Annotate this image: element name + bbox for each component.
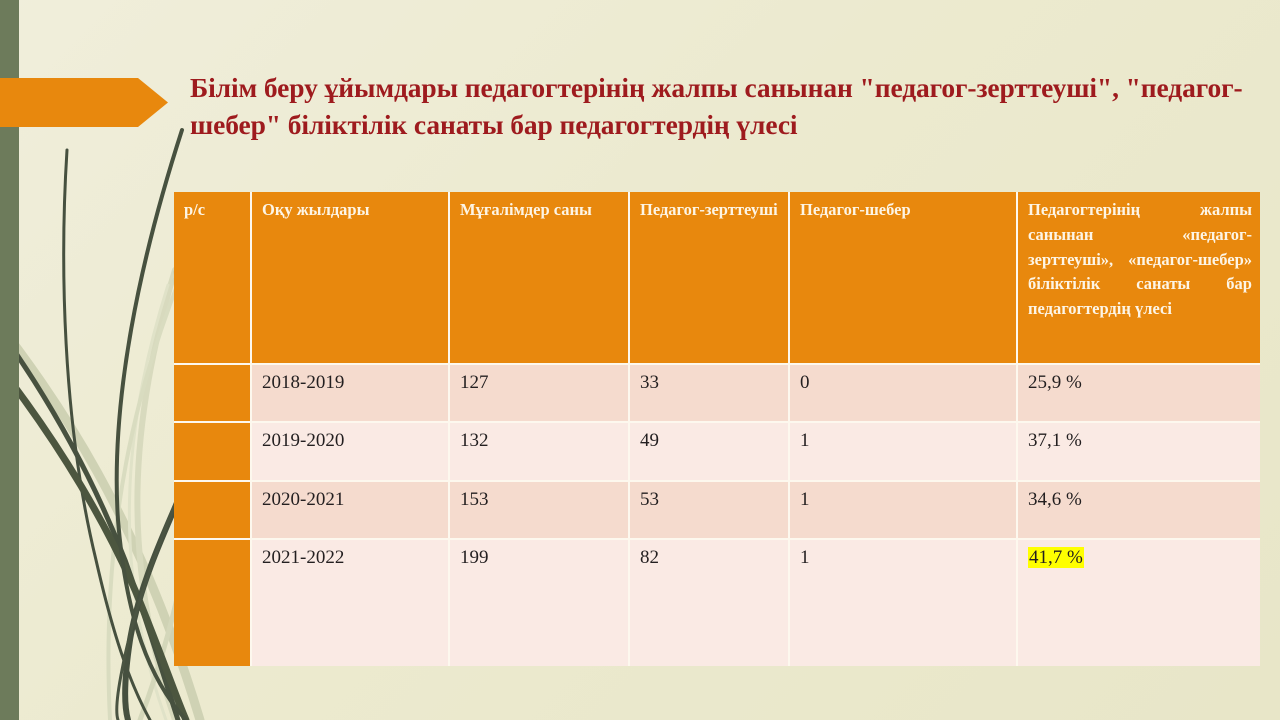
cell-master: 0: [790, 365, 1018, 423]
table-row: 2021-2022 199 82 1 41,7 %: [174, 540, 1260, 666]
cell-share: 25,9 %: [1018, 365, 1260, 423]
slide-canvas: Білім беру ұйымдары педагогтерінің жалпы…: [0, 0, 1280, 720]
cell-researcher: 49: [630, 423, 790, 482]
table-row: 2020-2021 153 53 1 34,6 %: [174, 482, 1260, 540]
col-header-index: р/с: [174, 192, 252, 365]
table-header: р/с Оқу жылдары Мұғалімдер саны Педагог-…: [174, 192, 1260, 365]
share-value: 37,1 %: [1028, 430, 1082, 451]
cell-researcher: 82: [630, 540, 790, 666]
col-header-share: Педагогтерінің жалпы санынан «педагог-зе…: [1018, 192, 1260, 365]
cell-teachers: 199: [450, 540, 630, 666]
cell-share: 34,6 %: [1018, 482, 1260, 540]
col-header-year: Оқу жылдары: [252, 192, 450, 365]
cell-index: [174, 482, 252, 540]
cell-master: 1: [790, 423, 1018, 482]
pedagog-share-table: р/с Оқу жылдары Мұғалімдер саны Педагог-…: [174, 192, 1260, 666]
cell-share: 37,1 %: [1018, 423, 1260, 482]
data-table-container: р/с Оқу жылдары Мұғалімдер саны Педагог-…: [174, 192, 1260, 666]
cell-index: [174, 423, 252, 482]
cell-teachers: 127: [450, 365, 630, 423]
cell-master: 1: [790, 482, 1018, 540]
cell-share: 41,7 %: [1018, 540, 1260, 666]
orange-arrow-banner: [0, 78, 168, 127]
cell-teachers: 132: [450, 423, 630, 482]
cell-index: [174, 540, 252, 666]
page-title: Білім беру ұйымдары педагогтерінің жалпы…: [190, 70, 1250, 144]
share-value: 25,9 %: [1028, 372, 1082, 393]
cell-index: [174, 365, 252, 423]
share-value: 34,6 %: [1028, 489, 1082, 510]
cell-year: 2021-2022: [252, 540, 450, 666]
cell-year: 2020-2021: [252, 482, 450, 540]
cell-teachers: 153: [450, 482, 630, 540]
share-value-highlighted: 41,7 %: [1028, 547, 1084, 568]
table-body: 2018-2019 127 33 0 25,9 % 2019-2020 132 …: [174, 365, 1260, 666]
col-header-master: Педагог-шебер: [790, 192, 1018, 365]
cell-year: 2018-2019: [252, 365, 450, 423]
col-header-researcher: Педагог-зерттеуші: [630, 192, 790, 365]
table-row: 2018-2019 127 33 0 25,9 %: [174, 365, 1260, 423]
cell-master: 1: [790, 540, 1018, 666]
table-row: 2019-2020 132 49 1 37,1 %: [174, 423, 1260, 482]
table-header-row: р/с Оқу жылдары Мұғалімдер саны Педагог-…: [174, 192, 1260, 365]
col-header-teachers: Мұғалімдер саны: [450, 192, 630, 365]
cell-researcher: 53: [630, 482, 790, 540]
cell-researcher: 33: [630, 365, 790, 423]
cell-year: 2019-2020: [252, 423, 450, 482]
